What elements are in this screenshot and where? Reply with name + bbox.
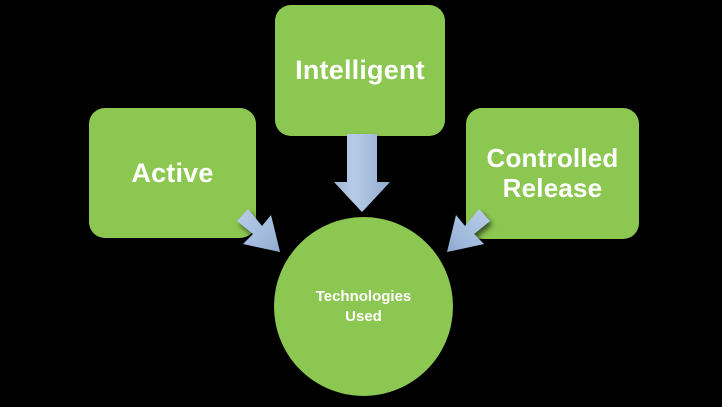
node-technologies-used-label-line-2: Used	[345, 308, 382, 325]
node-controlled-release[interactable]: ControlledRelease	[466, 108, 639, 239]
node-technologies-used-label: TechnologiesUsed	[316, 287, 412, 325]
node-technologies-used-label-line-1: Technologies	[316, 288, 412, 305]
node-controlled-release-label-line-1: Controlled	[487, 143, 619, 173]
node-intelligent[interactable]: Intelligent	[275, 5, 445, 136]
diagram-canvas: Active Intelligent ControlledRelease	[0, 0, 722, 407]
node-controlled-release-label: ControlledRelease	[479, 144, 627, 202]
node-technologies-used[interactable]: TechnologiesUsed	[274, 217, 453, 396]
node-controlled-release-label-line-2: Release	[503, 173, 603, 203]
node-intelligent-label: Intelligent	[287, 55, 433, 85]
node-active[interactable]: Active	[89, 108, 256, 238]
arrow-intelligent-to-center	[334, 134, 390, 212]
node-active-label: Active	[123, 158, 221, 188]
